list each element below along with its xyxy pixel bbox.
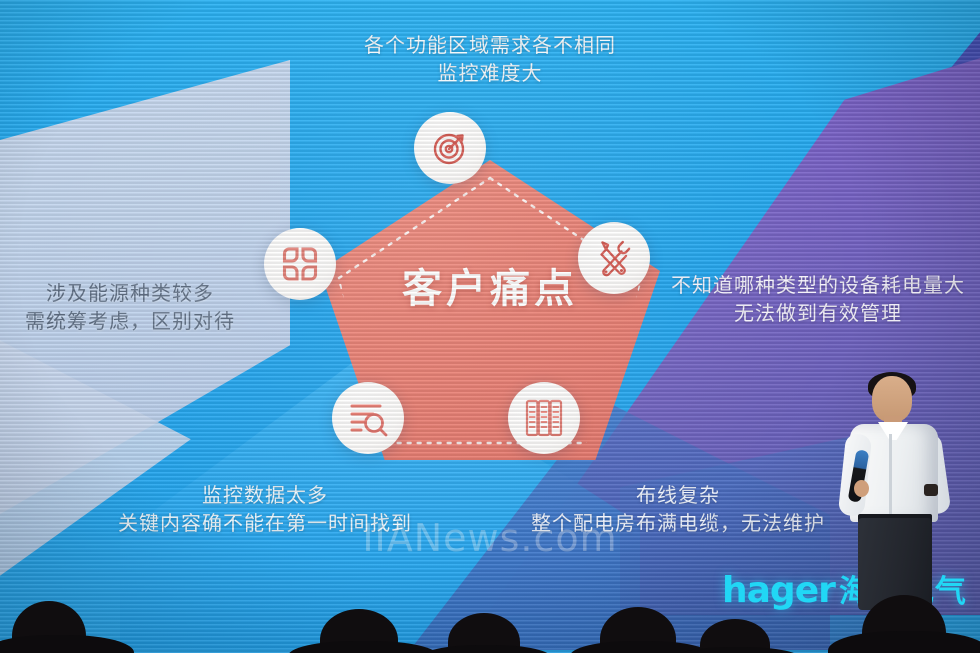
caption-bottom-right-line2: 整个配电房布满电缆，无法维护 bbox=[498, 510, 858, 538]
tools-icon bbox=[578, 222, 650, 294]
presenter-clicker bbox=[924, 484, 938, 496]
audience-silhouettes bbox=[0, 561, 980, 653]
target-icon bbox=[414, 112, 486, 184]
audience-shoulder bbox=[0, 635, 134, 653]
caption-right: 不知道哪种类型的设备耗电量大 无法做到有效管理 bbox=[648, 272, 980, 329]
caption-bottom-left: 监控数据太多 关键内容确不能在第一时间找到 bbox=[86, 482, 444, 539]
caption-left-line2: 需统筹考虑，区别对待 bbox=[0, 308, 264, 336]
audience-shoulder bbox=[828, 631, 980, 653]
caption-bottom-right-line1: 布线复杂 bbox=[498, 482, 858, 510]
presenter-hand bbox=[854, 480, 869, 497]
caption-bottom-right: 布线复杂 整个配电房布满电缆，无法维护 bbox=[498, 482, 858, 539]
server-rack-icon bbox=[508, 382, 580, 454]
caption-right-line1: 不知道哪种类型的设备耗电量大 bbox=[648, 272, 980, 300]
caption-left: 涉及能源种类较多 需统筹考虑，区别对待 bbox=[0, 280, 264, 337]
caption-bottom-left-line1: 监控数据太多 bbox=[86, 482, 444, 510]
caption-right-line2: 无法做到有效管理 bbox=[648, 300, 980, 328]
caption-left-line1: 涉及能源种类较多 bbox=[0, 280, 264, 308]
caption-top-line1: 各个功能区域需求各不相同 bbox=[0, 32, 980, 60]
slide-content: 各个功能区域需求各不相同 监控难度大 涉及能源种类较多 需统筹考虑，区别对待 不… bbox=[0, 0, 980, 653]
caption-bottom-left-line2: 关键内容确不能在第一时间找到 bbox=[86, 510, 444, 538]
caption-top-line2: 监控难度大 bbox=[0, 60, 980, 88]
audience-shoulder bbox=[288, 641, 438, 653]
caption-top: 各个功能区域需求各不相同 监控难度大 bbox=[0, 32, 980, 89]
document-search-icon bbox=[332, 382, 404, 454]
presenter-shirt-placket bbox=[889, 434, 892, 520]
grid-petals-icon bbox=[264, 228, 336, 300]
conference-photo: 各个功能区域需求各不相同 监控难度大 涉及能源种类较多 需统筹考虑，区别对待 不… bbox=[0, 0, 980, 653]
audience-shoulder bbox=[420, 645, 552, 653]
